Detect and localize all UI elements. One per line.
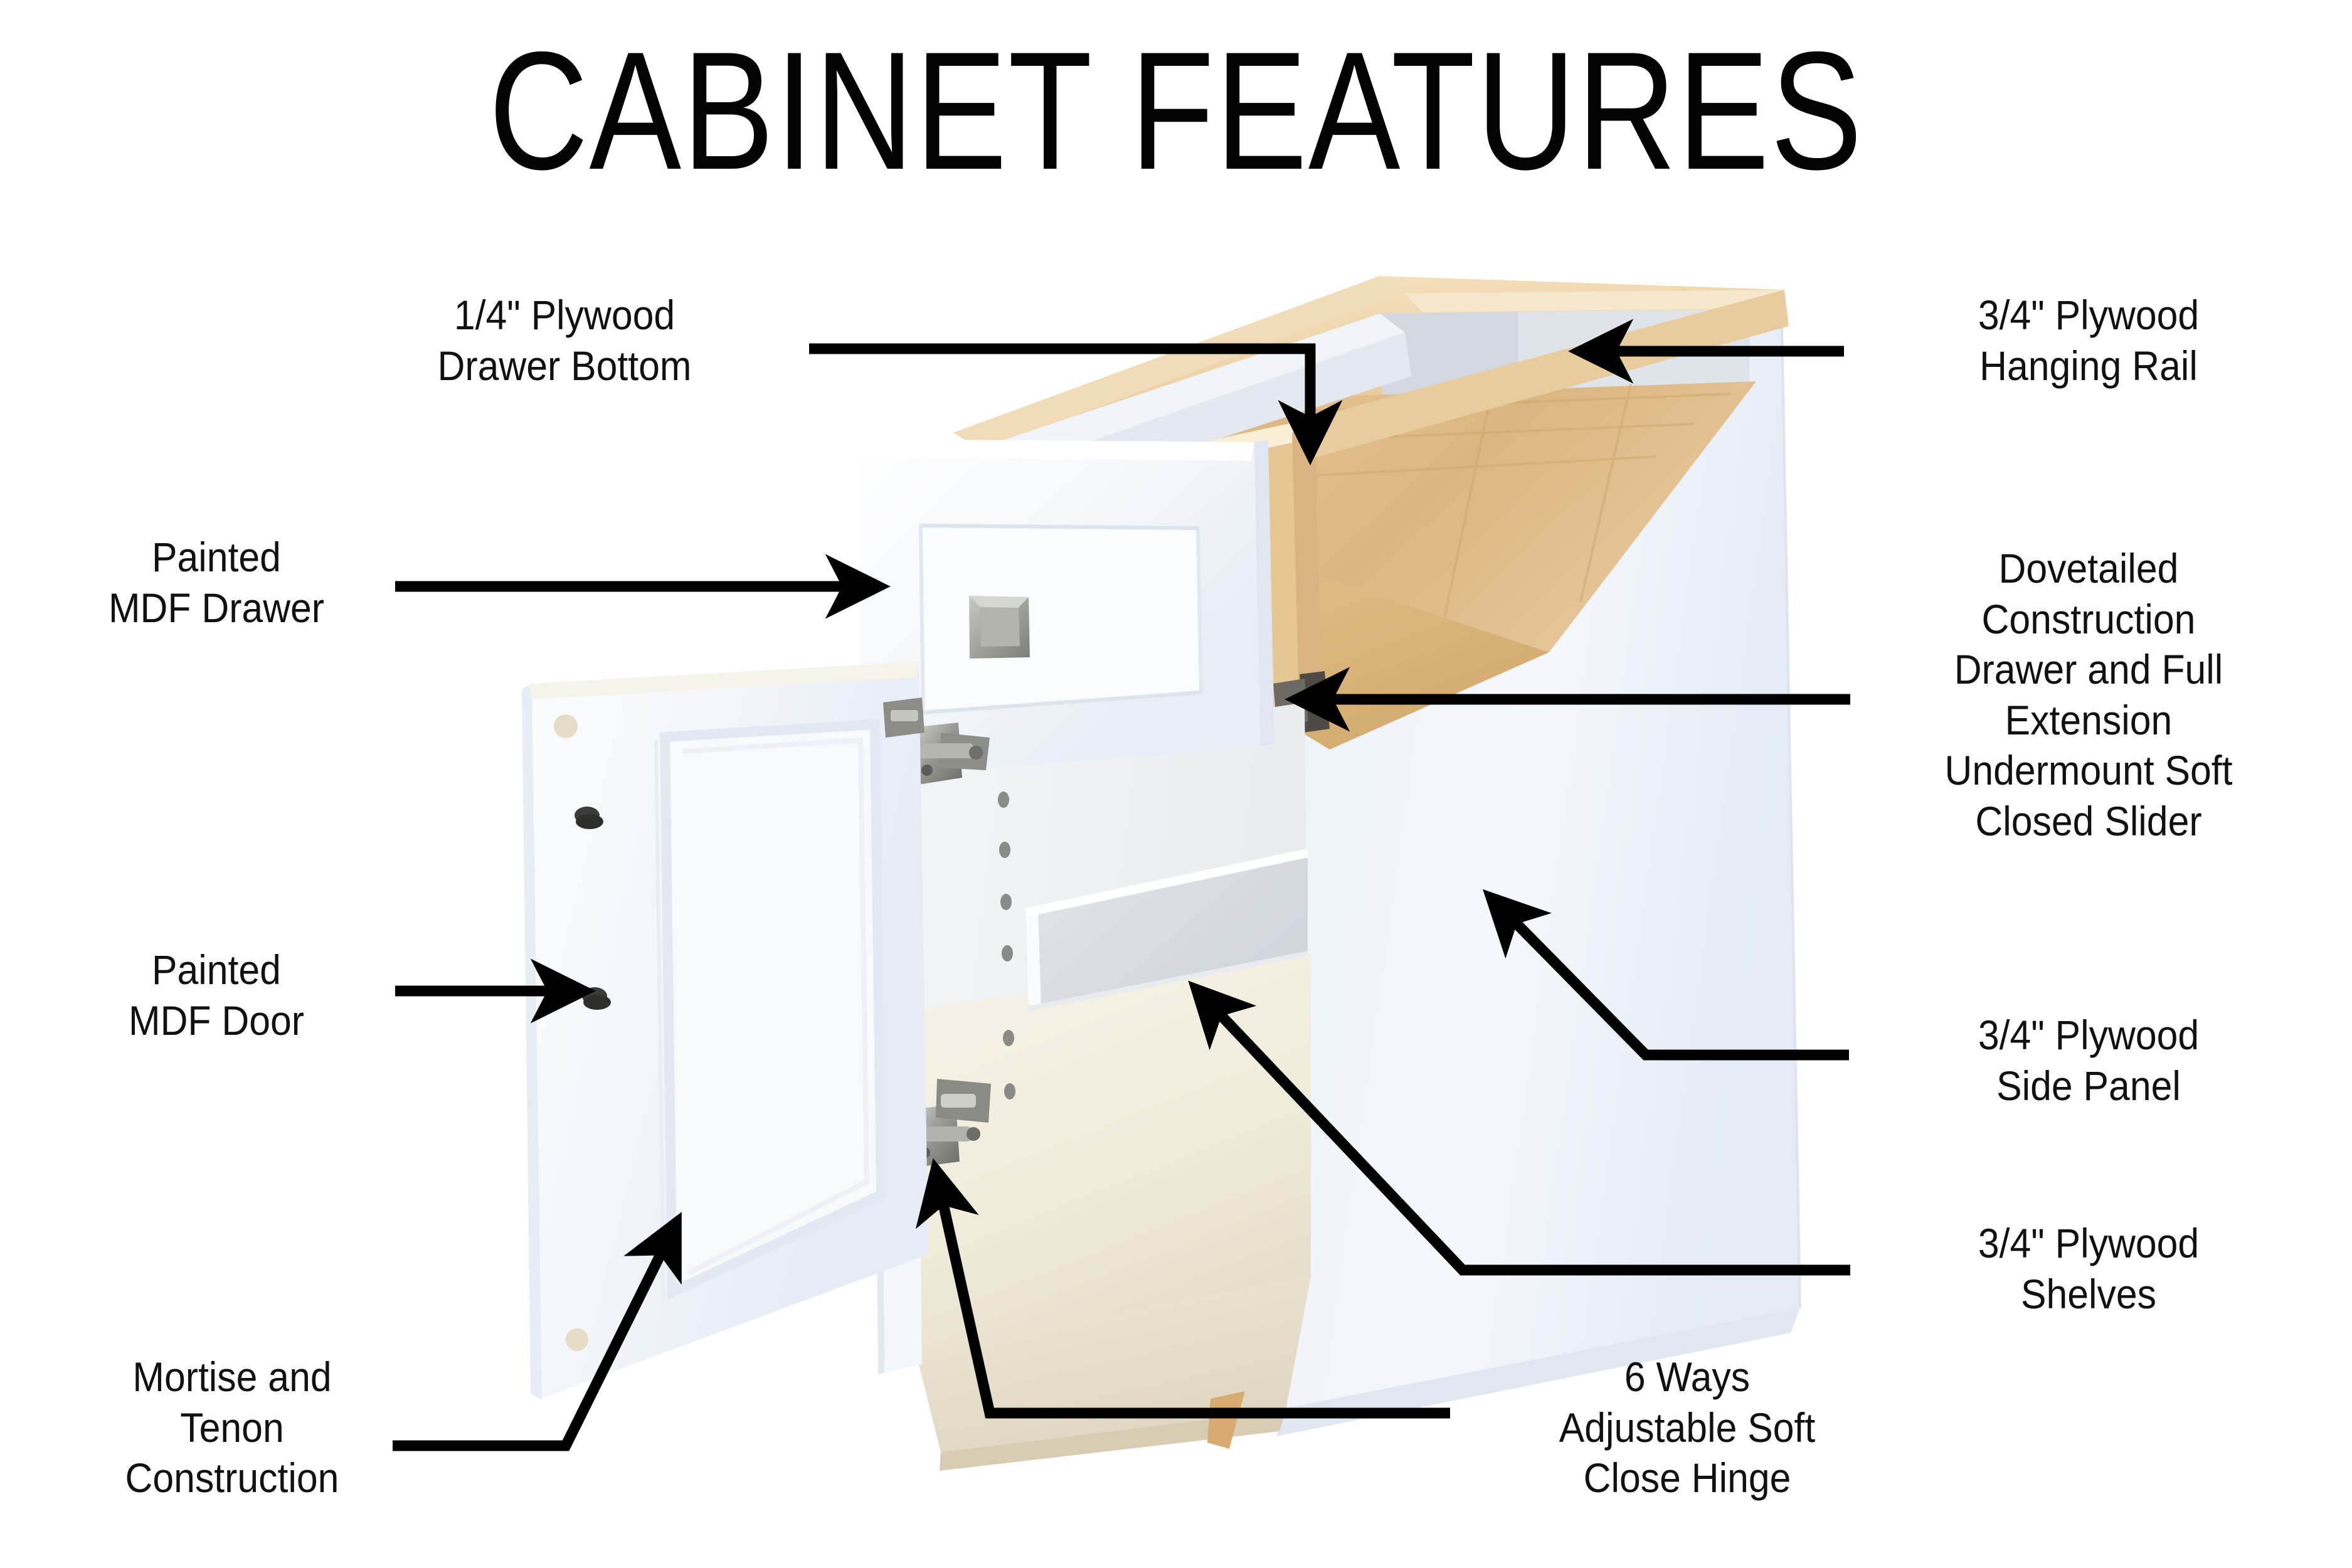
arrow-drawer-bottom — [809, 349, 1310, 453]
label-dovetailed-construction: Dovetailed Construction Drawer and Full … — [1875, 543, 2302, 846]
label-line: 6 Ways — [1474, 1352, 1901, 1402]
label-line: Mortise and — [53, 1352, 411, 1402]
label-line: Drawer Bottom — [357, 341, 772, 391]
label-painted-mdf-door: Painted MDF Door — [34, 945, 398, 1046]
label-side-panel: 3/4" Plywood Side Panel — [1875, 1010, 2302, 1111]
label-hanging-rail: 3/4" Plywood Hanging Rail — [1875, 290, 2302, 391]
label-line: Construction — [53, 1453, 411, 1503]
label-line: Drawer and Full — [1875, 644, 2302, 695]
label-soft-close-hinge: 6 Ways Adjustable Soft Close Hinge — [1474, 1352, 1901, 1503]
label-mortise-and-tenon: Mortise and Tenon Construction — [53, 1352, 411, 1503]
label-line: Side Panel — [1875, 1061, 2302, 1111]
label-line: Close Hinge — [1474, 1453, 1901, 1503]
label-line: Painted — [34, 532, 398, 583]
label-line: Adjustable Soft — [1474, 1402, 1901, 1453]
label-line: Hanging Rail — [1875, 341, 2302, 391]
label-drawer-bottom: 1/4" Plywood Drawer Bottom — [357, 290, 772, 391]
label-line: Dovetailed — [1875, 543, 2302, 594]
label-line: Painted — [34, 945, 398, 995]
label-line: 3/4" Plywood — [1875, 1218, 2302, 1269]
label-line: Tenon — [53, 1402, 411, 1453]
arrow-shelves — [1197, 990, 1850, 1270]
arrow-mortise — [393, 1223, 676, 1446]
label-line: Closed Slider — [1875, 796, 2302, 847]
arrow-side-panel — [1491, 898, 1849, 1055]
label-shelves: 3/4" Plywood Shelves — [1875, 1218, 2302, 1319]
label-line: Construction — [1875, 594, 2302, 645]
arrow-hinge — [936, 1170, 1450, 1413]
label-line: Shelves — [1875, 1269, 2302, 1320]
label-painted-mdf-drawer: Painted MDF Drawer — [34, 532, 398, 633]
label-line: Undermount Soft — [1875, 745, 2302, 796]
label-line: 1/4" Plywood — [357, 290, 772, 341]
label-line: 3/4" Plywood — [1875, 1010, 2302, 1061]
label-line: MDF Door — [34, 995, 398, 1046]
label-line: 3/4" Plywood — [1875, 290, 2302, 341]
cabinet-features-infographic: CABINET FEATURES — [0, 0, 2352, 1568]
label-line: MDF Drawer — [34, 583, 398, 633]
label-line: Extension — [1875, 695, 2302, 746]
